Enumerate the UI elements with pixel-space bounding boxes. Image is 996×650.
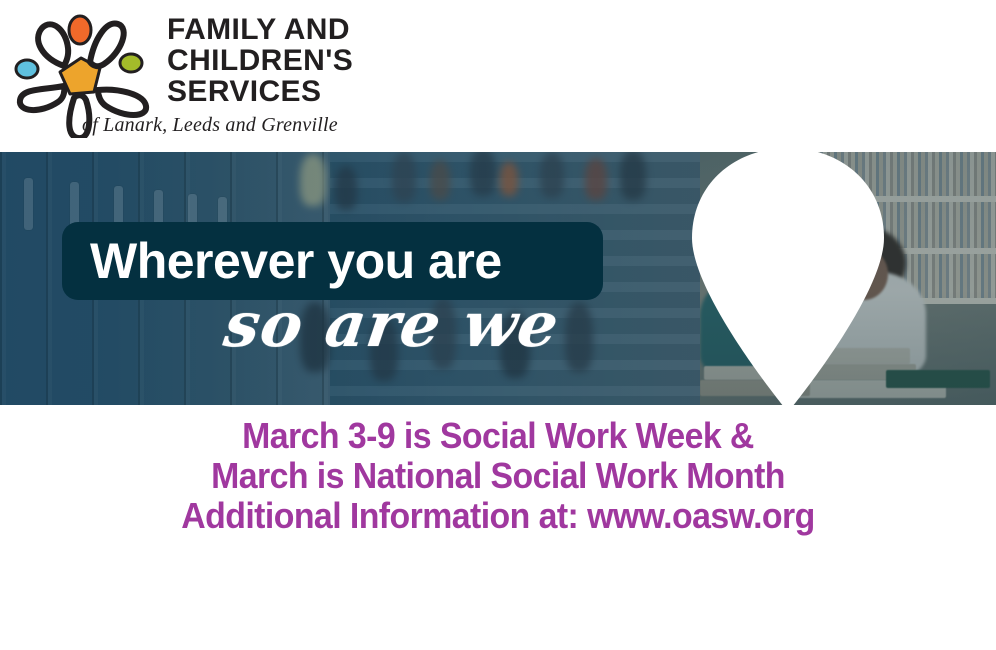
banner-script-subheadline: so are we bbox=[221, 294, 563, 356]
hero-banner: Wherever you are so are we bbox=[0, 152, 996, 405]
photo-tint-overlay bbox=[700, 152, 996, 405]
logo-dot-green bbox=[120, 54, 142, 72]
logo-name-line-3: SERVICES bbox=[167, 76, 497, 107]
logo-header: FAMILY AND CHILDREN'S SERVICES of Lanark… bbox=[0, 0, 996, 152]
organization-tagline: of Lanark, Leeds and Grenville bbox=[82, 114, 338, 137]
organization-name: FAMILY AND CHILDREN'S SERVICES bbox=[167, 14, 497, 107]
banner-headline: Wherever you are bbox=[90, 233, 502, 289]
logo-dot-blue bbox=[16, 60, 38, 78]
logo-dot-orange bbox=[69, 16, 91, 44]
logo-name-line-2: CHILDREN'S bbox=[167, 45, 497, 76]
logo-name-line-1: FAMILY AND bbox=[167, 14, 497, 45]
message-line-1: March 3-9 is Social Work Week & bbox=[30, 416, 966, 456]
message-line-3: Additional Information at: www.oasw.org bbox=[30, 496, 966, 536]
social-work-week-message: March 3-9 is Social Work Week & March is… bbox=[0, 405, 996, 650]
message-line-2: March is National Social Work Month bbox=[30, 456, 966, 496]
photo-library-students bbox=[700, 152, 996, 405]
